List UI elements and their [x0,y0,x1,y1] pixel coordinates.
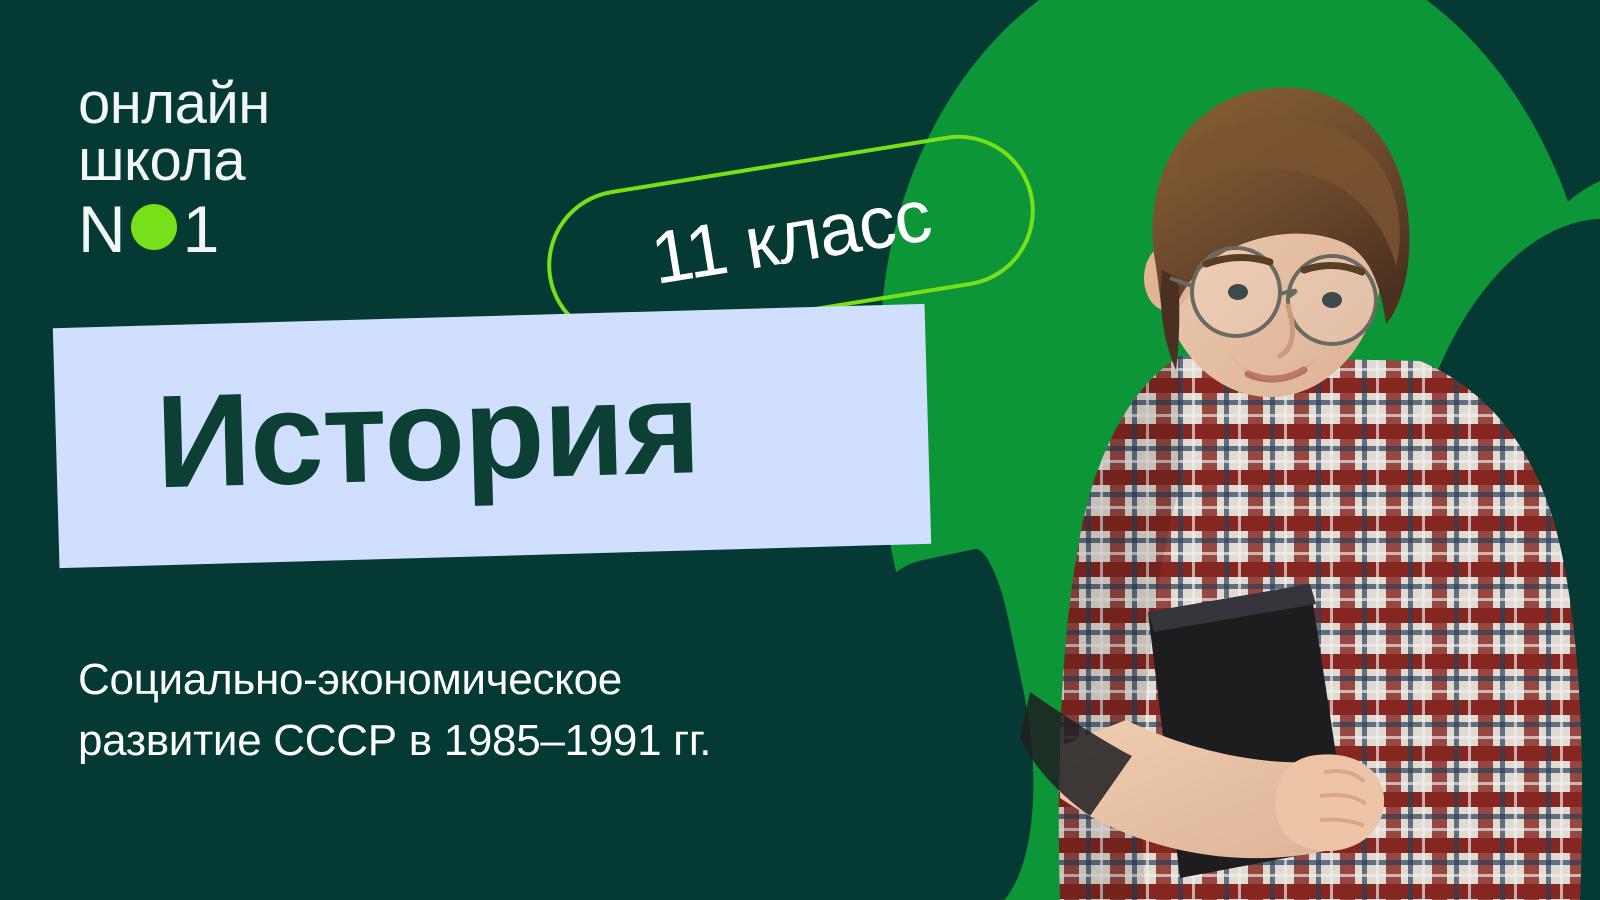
grade-badge-label: 11 класс [645,172,936,301]
logo-letter-n: N [78,196,125,262]
lesson-cover-slide: онлайн школа N 1 11 класс История Социал… [0,0,1600,900]
lesson-topic-line-1: Социально-экономическое [78,650,958,711]
lesson-topic-line-2: развитие СССР в 1985–1991 гг. [78,711,958,772]
subject-title: История [154,351,702,517]
logo-number-one: N 1 [78,196,270,262]
green-dot-icon [131,204,177,250]
logo-digit-one: 1 [183,196,219,262]
brand-logo: онлайн школа N 1 [78,76,270,262]
lesson-topic: Социально-экономическое развитие СССР в … [78,650,958,771]
logo-line-online: онлайн [78,76,270,133]
logo-line-school: школа [78,133,270,190]
subject-banner: История [53,304,931,568]
